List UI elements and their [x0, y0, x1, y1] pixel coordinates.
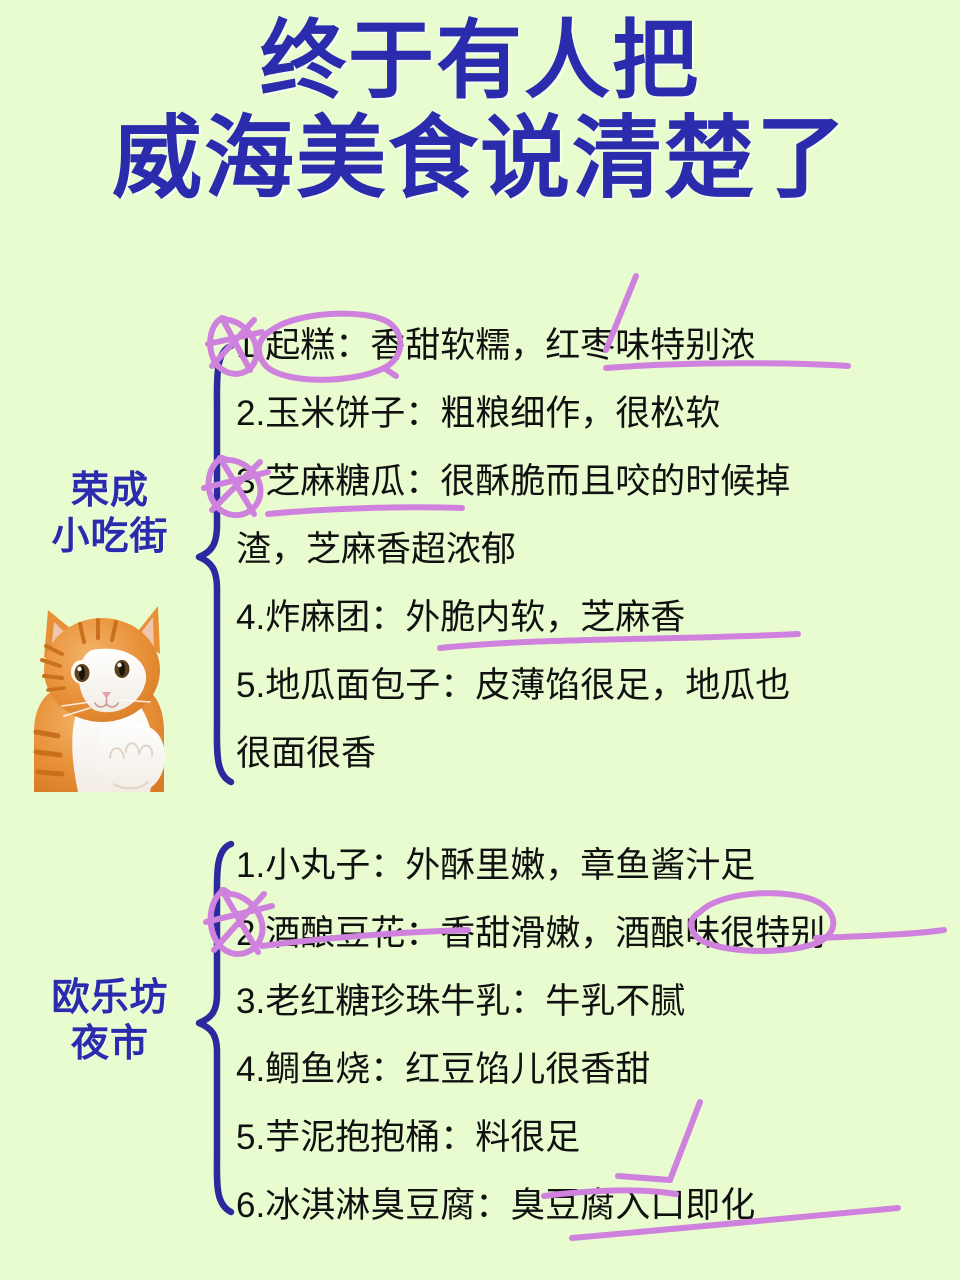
list-item: 2.玉米饼子：粗粮细作，很松软	[236, 380, 948, 448]
section-label-rongcheng-line2: 小吃街	[10, 514, 210, 560]
list-item: 5.地瓜面包子：皮薄馅很足，地瓜也	[236, 652, 948, 720]
section-label-oule: 欧乐坊 夜市	[10, 975, 210, 1068]
list-item: 6.冰淇淋臭豆腐：臭豆腐入口即化	[236, 1172, 948, 1240]
list-item: 2.酒酿豆花：香甜滑嫩，酒酿味很特别	[236, 900, 948, 968]
title-line-2: 威海美食说清楚了	[0, 112, 960, 207]
orange-tabby-cat-photo	[18, 592, 190, 792]
list-item: 4.鲷鱼烧：红豆馅儿很香甜	[236, 1036, 948, 1104]
list-item: 4.炸麻团：外脆内软，芝麻香	[236, 584, 948, 652]
list-item: 3.老红糖珍珠牛乳：牛乳不腻	[236, 968, 948, 1036]
list-oule: 1.小丸子：外酥里嫩，章鱼酱汁足 2.酒酿豆花：香甜滑嫩，酒酿味很特别 3.老红…	[236, 832, 948, 1240]
list-item-continuation: 渣，芝麻香超浓郁	[236, 516, 948, 584]
list-rongcheng: 1.起糕：香甜软糯，红枣味特别浓 2.玉米饼子：粗粮细作，很松软 3.芝麻糖瓜：…	[236, 312, 948, 788]
list-item: 1.起糕：香甜软糯，红枣味特别浓	[236, 312, 948, 380]
title-line-1: 终于有人把	[0, 16, 960, 106]
section-label-rongcheng: 荣成 小吃街	[10, 468, 210, 561]
section-label-rongcheng-line1: 荣成	[10, 468, 210, 514]
poster-canvas: 终于有人把 威海美食说清楚了 荣成 小吃街 1.起糕：香甜软糯，红枣味特别浓 2…	[0, 0, 960, 1280]
list-item: 1.小丸子：外酥里嫩，章鱼酱汁足	[236, 832, 948, 900]
list-item-continuation: 很面很香	[236, 720, 948, 788]
section-label-oule-line1: 欧乐坊	[10, 975, 210, 1021]
list-item: 5.芋泥抱抱桶：料很足	[236, 1104, 948, 1172]
section-label-oule-line2: 夜市	[10, 1021, 210, 1067]
list-item: 3.芝麻糖瓜：很酥脆而且咬的时候掉	[236, 448, 948, 516]
page-title: 终于有人把 威海美食说清楚了	[0, 16, 960, 207]
